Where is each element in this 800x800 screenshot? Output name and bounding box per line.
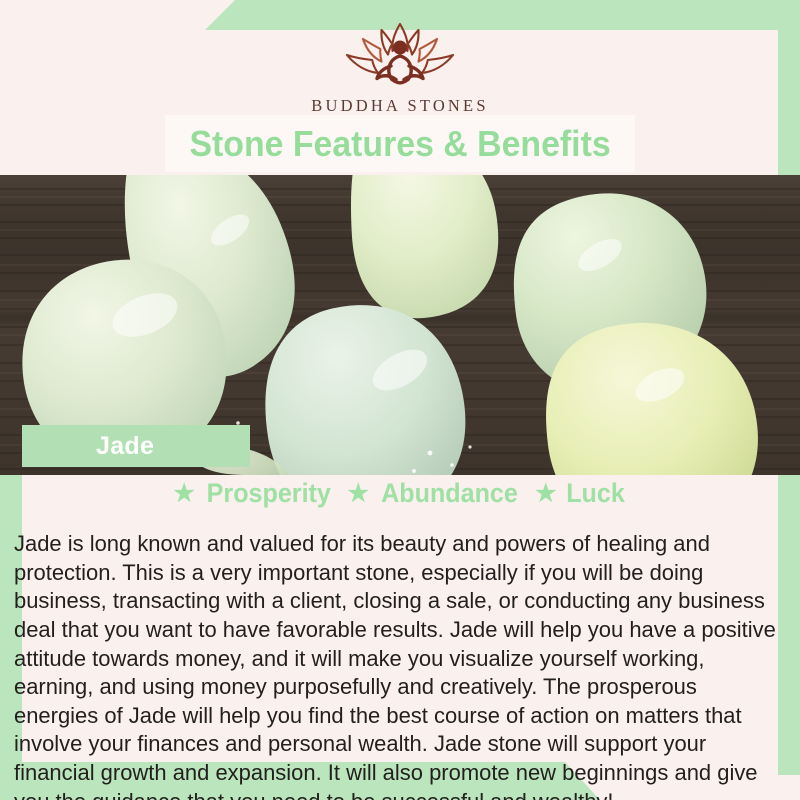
stone-description: Jade is long known and valued for its be…: [14, 530, 777, 800]
star-icon: ★: [535, 482, 557, 506]
star-icon: ★: [348, 482, 370, 506]
stone-info-card: BUDDHA STONES Stone Features & Benefits: [0, 0, 800, 800]
brand-wordmark: BUDDHA STONES: [0, 96, 800, 116]
keyword-label: Abundance: [381, 478, 518, 509]
stone-name-tab: Jade: [22, 425, 250, 467]
title-banner: Stone Features & Benefits: [165, 115, 635, 172]
keyword-label: Luck: [566, 478, 625, 509]
lotus-meditation-icon: [334, 18, 466, 92]
keyword-prosperity: ★ Prosperity: [173, 478, 335, 509]
page-title: Stone Features & Benefits: [189, 123, 610, 165]
keyword-label: Prosperity: [207, 478, 331, 509]
star-icon: ★: [173, 482, 195, 506]
keyword-list: ★ Prosperity ★ Abundance ★ Luck: [0, 478, 800, 509]
brand-logo: BUDDHA STONES: [0, 18, 800, 116]
keyword-abundance: ★ Abundance: [348, 478, 524, 509]
keyword-luck: ★ Luck: [535, 478, 627, 509]
stone-name-label: Jade: [22, 432, 154, 461]
